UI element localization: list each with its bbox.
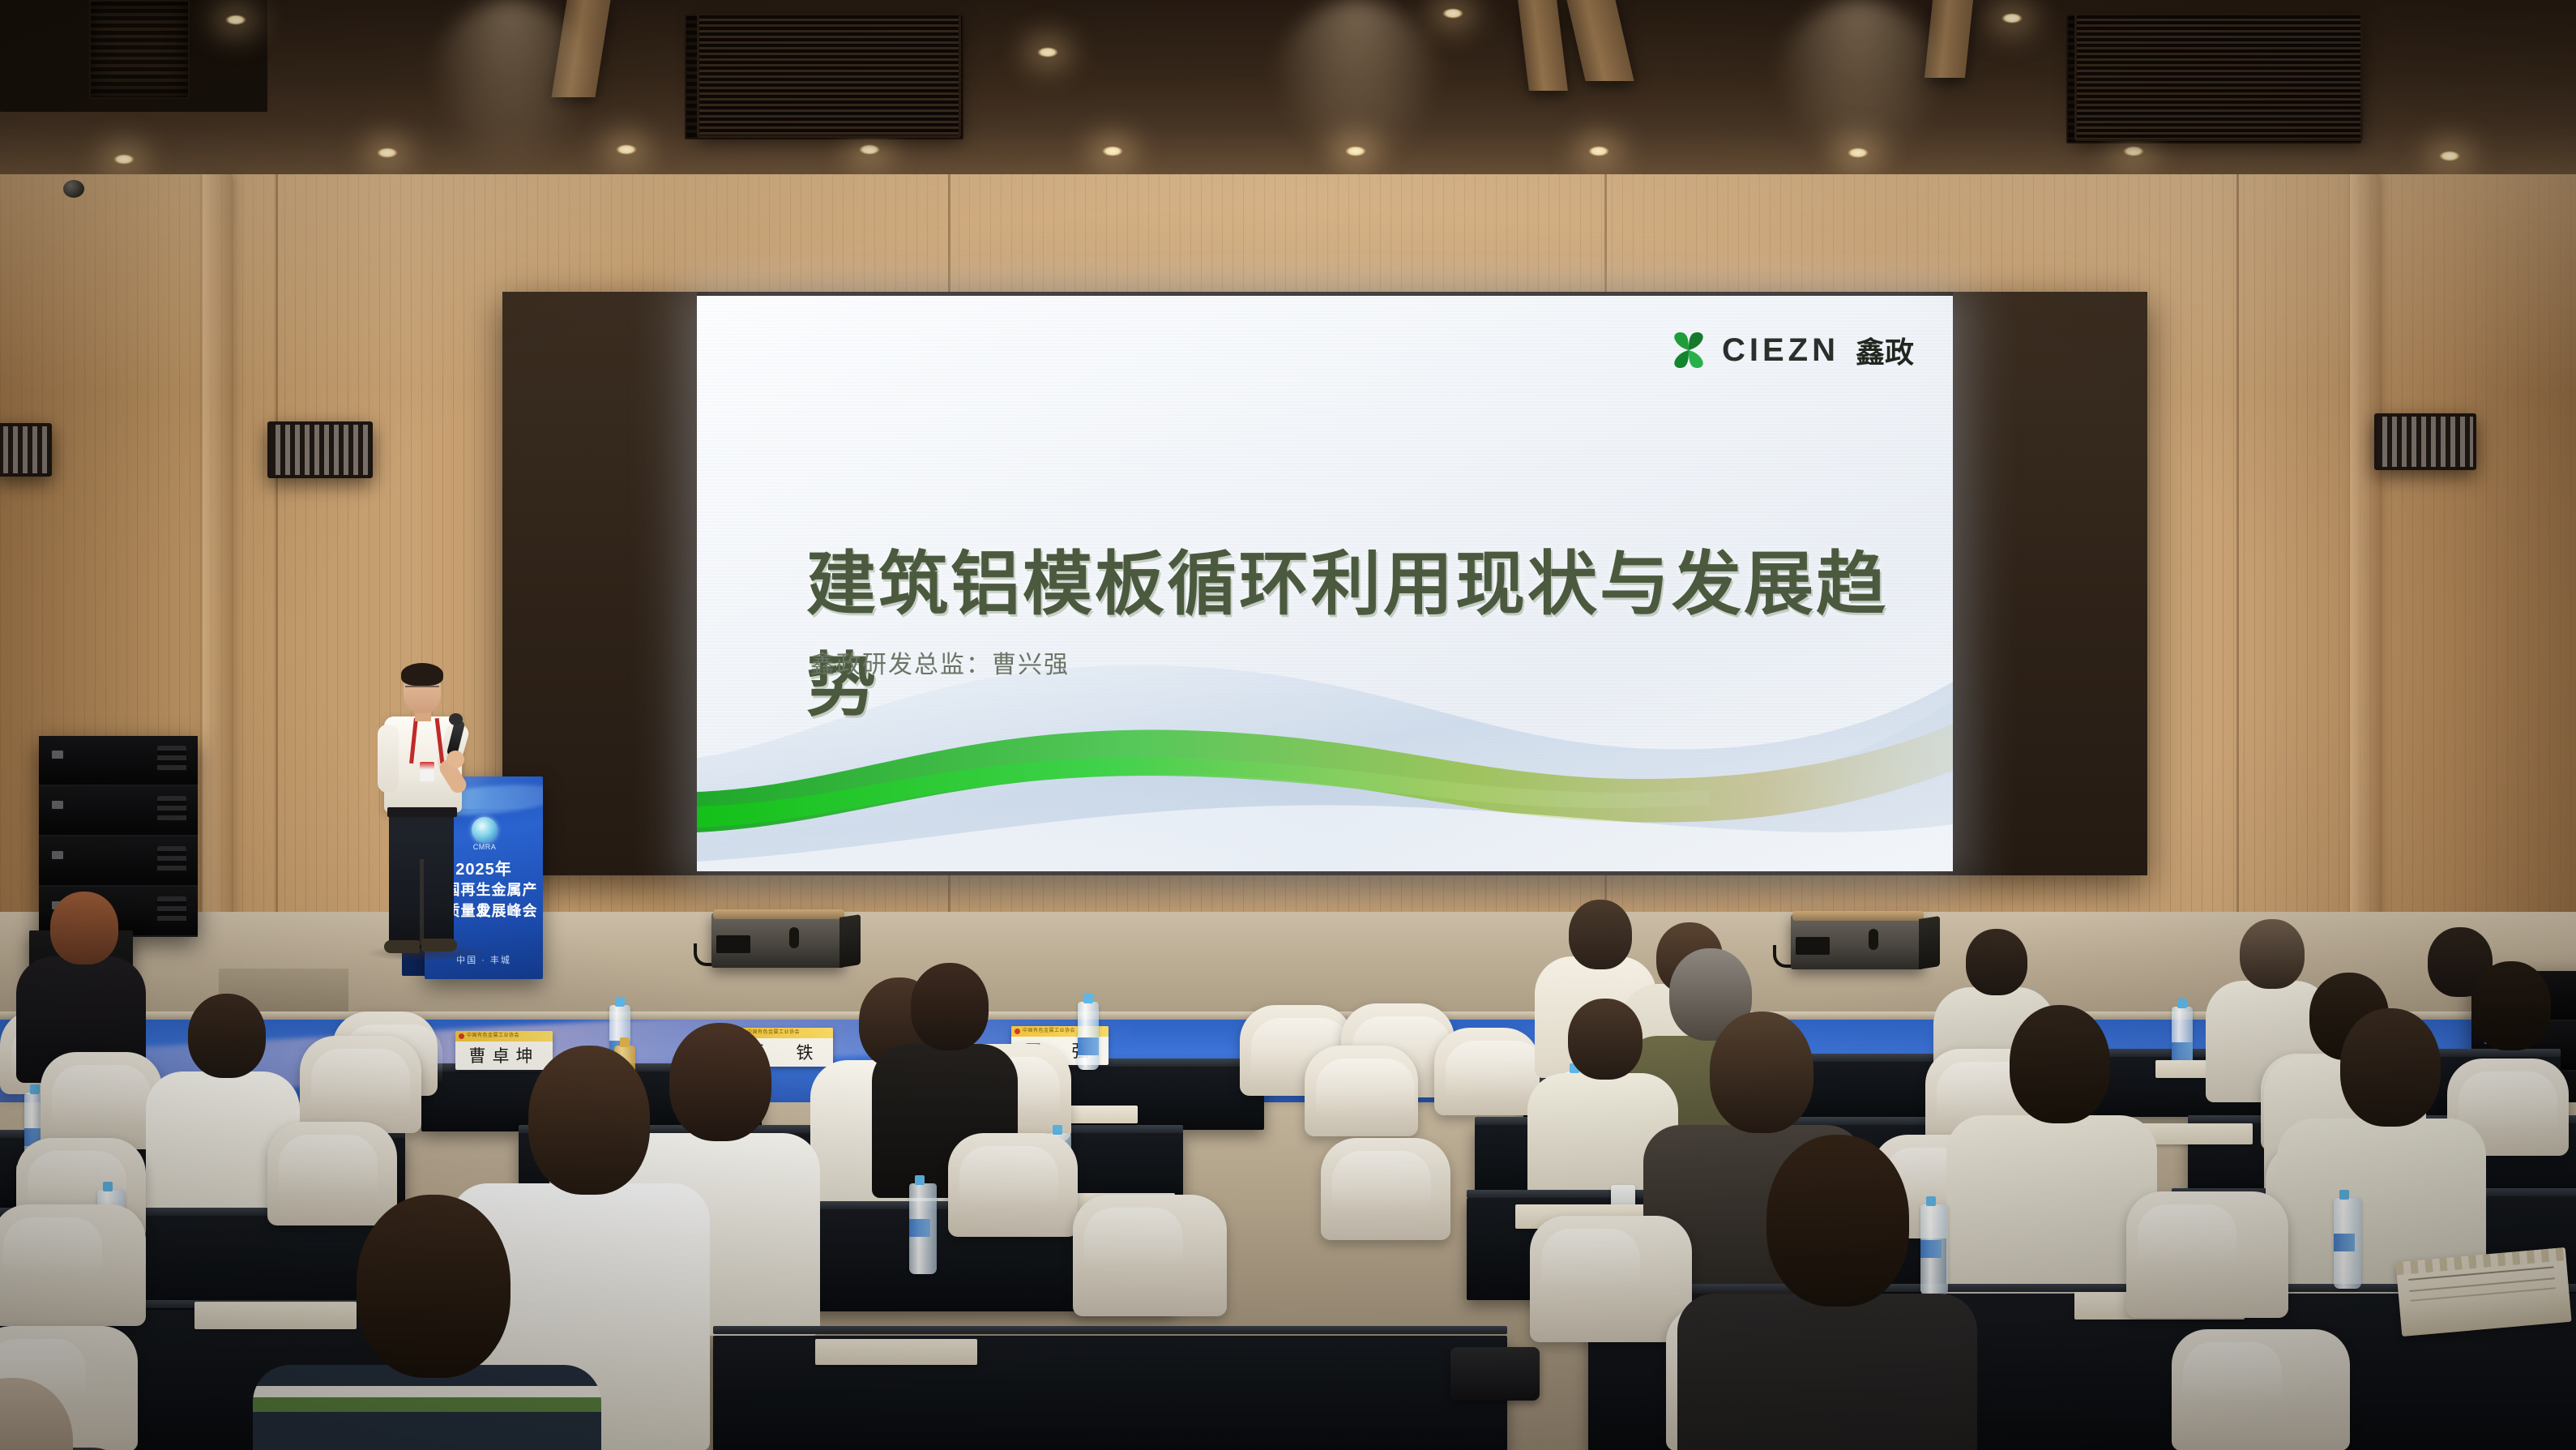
name-card-org: 中国有色金属工业协会 (455, 1031, 553, 1042)
presenter-belt (387, 807, 457, 817)
wall-grille-left-2 (267, 421, 373, 478)
attendee-head (911, 963, 989, 1050)
slide-title: 建筑铝模板循环利用现状与发展趋势 (806, 527, 1953, 729)
attendee-head (357, 1195, 511, 1378)
presenter-hand (446, 751, 464, 768)
screen-bezel-right (1953, 292, 2147, 875)
water-bottle (909, 1183, 937, 1274)
chair (300, 1036, 421, 1133)
attendee-head (1966, 929, 2027, 995)
wall-seam-1 (276, 174, 278, 1009)
cmra-emblem-label: CMRA (464, 843, 506, 851)
table-top (713, 1326, 1507, 1334)
attendee-head (1569, 900, 1632, 969)
attendee-head (669, 1023, 771, 1141)
wall-vent-right (2074, 13, 2363, 141)
line-array-box (39, 836, 198, 887)
ceiling-downlight-8 (859, 144, 880, 155)
name-card-dot-icon (1015, 1029, 1020, 1034)
monitor-top (713, 909, 844, 919)
monitor-connector-plate (716, 935, 750, 953)
wall-seam-4 (2236, 174, 2239, 1009)
ceiling-downlight-13 (2123, 146, 2144, 156)
attendee-head (528, 1046, 650, 1195)
chair (1305, 1046, 1418, 1136)
attendee-head (188, 994, 266, 1078)
attendee-head (50, 892, 118, 965)
chair (2126, 1191, 2288, 1318)
attendee-head (2010, 1005, 2110, 1123)
wall-pilaster-left (203, 174, 232, 1009)
water-bottle (1920, 1204, 1948, 1295)
ceiling-downlight-10 (1345, 146, 1366, 156)
attendee-body (1677, 1294, 1977, 1450)
ceiling-downlight-11 (1588, 146, 1609, 156)
attendee-head (2240, 919, 2305, 989)
presenter-shoe-left (384, 940, 420, 953)
slide-logo-text: CIEZN (1722, 334, 1839, 366)
conference-program-booklet (2395, 1247, 2571, 1337)
presenter-leg-gap (420, 859, 424, 945)
chair (41, 1052, 162, 1149)
ceiling-downlight-12 (1848, 148, 1869, 158)
chair (267, 1122, 397, 1225)
attendee-head (1766, 1135, 1909, 1307)
wall-pilaster-right (2350, 174, 2379, 1009)
cmra-emblem-icon (472, 817, 498, 843)
stage-monitor-left (711, 906, 857, 969)
slide-logo-cn: 鑫政 (1856, 329, 1914, 371)
chair (1073, 1195, 1227, 1316)
presentation-slide: CIEZN 鑫政 建筑铝模板循环利用现状与发展趋势 鑫政研发总监：曹兴强 (697, 296, 1953, 871)
ceiling-downlight-9 (1102, 146, 1123, 156)
ceiling-downlight-14 (2439, 151, 2460, 161)
chair (948, 1133, 1078, 1237)
conference-hall-photo: CIEZN 鑫政 建筑铝模板循环利用现状与发展趋势 鑫政研发总监：曹兴强 2 (0, 0, 2576, 1450)
chair (2172, 1329, 2350, 1450)
monitor-port (789, 927, 799, 948)
monitor-top (1792, 911, 1924, 921)
wall-grille-left (0, 423, 52, 477)
monitor-connector-plate (1796, 937, 1830, 955)
name-card-org-bar: 中国有色金属工业协会 (455, 1031, 553, 1042)
slide-logo: CIEZN 鑫政 (1667, 328, 1914, 372)
presenter-badge (420, 762, 434, 781)
attendee-head (1710, 1012, 1813, 1133)
chair (0, 1204, 146, 1326)
ciezn-pinwheel-logo-icon (1667, 328, 1711, 372)
monitor-port (1869, 929, 1878, 950)
stage-monitor-right (1791, 908, 1937, 971)
chair (1434, 1028, 1540, 1115)
ceiling-slat-panel-1 (89, 0, 190, 99)
line-array-box (39, 786, 198, 836)
presenter-shoe-right (421, 939, 457, 952)
glasses-icon (405, 686, 439, 695)
ceiling-downlight-2 (1037, 47, 1058, 58)
name-card-dot-icon (459, 1033, 464, 1039)
water-bottle (1078, 1002, 1099, 1070)
notepad (194, 1302, 357, 1329)
ceiling-downlight-5 (113, 154, 135, 165)
name-card-1: 中国有色金属工业协会 曹卓坤 (455, 1031, 553, 1070)
ceiling-camera-icon (63, 180, 84, 198)
wall-vent-left (697, 13, 961, 138)
wall-grille-right (2374, 413, 2476, 470)
name-card-name: 曹卓坤 (455, 1043, 553, 1069)
attendee-head (2471, 961, 2551, 1050)
attendee-head (2340, 1008, 2441, 1127)
line-array-box (39, 736, 198, 786)
monitor-side (839, 914, 861, 968)
water-bottle (2334, 1198, 2361, 1289)
slide-subtitle: 鑫政研发总监：曹兴强 (810, 644, 1070, 680)
chair (1530, 1216, 1692, 1342)
laptop-bag (1450, 1347, 1540, 1401)
monitor-side (1919, 916, 1940, 969)
ceiling-downlight-3 (1442, 8, 1463, 19)
ceiling-downlight-7 (616, 144, 637, 155)
ceiling-downlight-6 (377, 148, 398, 158)
presenter-hair (401, 663, 443, 686)
presenter-arm-left (378, 725, 399, 793)
microphone-head (449, 713, 463, 725)
attendee-head (1568, 999, 1643, 1080)
ceiling-downlight-1 (225, 15, 246, 25)
notepad (815, 1339, 977, 1365)
ceiling-downlight-4 (2001, 13, 2023, 24)
chair (1321, 1138, 1450, 1240)
